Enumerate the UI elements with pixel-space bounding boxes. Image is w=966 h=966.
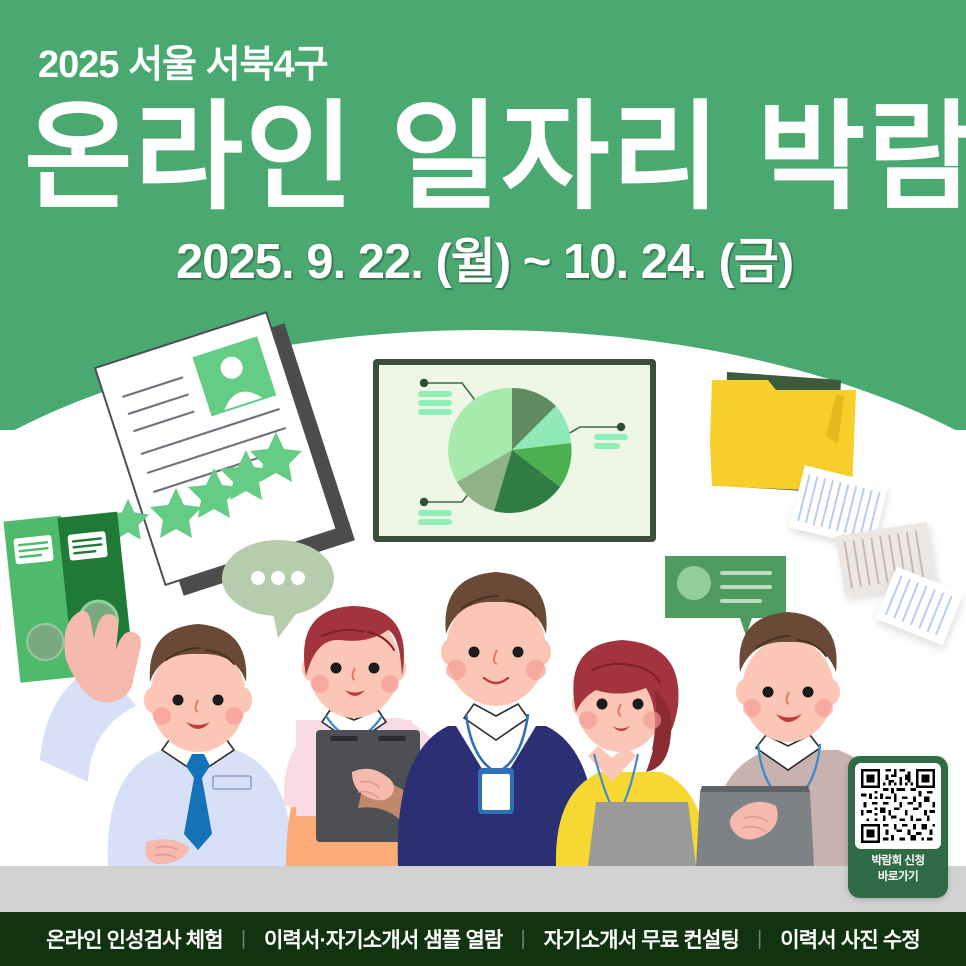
qr-apply-badge[interactable]: 박람회 신청 바로가기 xyxy=(848,756,948,898)
person-blue-shirt-tie xyxy=(40,611,292,866)
footer-item-3[interactable]: 이력서 사진 수정 xyxy=(764,924,936,954)
tablet-gray xyxy=(588,802,696,866)
footer-items: 온라인 인성검사 체험 | 이력서·자기소개서 샘플 열람 | 자기소개서 무료… xyxy=(30,924,936,954)
footer-item-2[interactable]: 자기소개서 무료 컨설팅 xyxy=(528,924,755,954)
person-yellow-top xyxy=(556,640,706,866)
qr-caption: 박람회 신청 바로가기 xyxy=(871,854,924,885)
qr-caption-line2: 바로가기 xyxy=(871,870,924,886)
callout-dot xyxy=(420,498,428,506)
presentation-board xyxy=(373,359,656,542)
footer-item-0[interactable]: 온라인 인성검사 체험 xyxy=(30,924,239,954)
avatar-circle xyxy=(677,566,711,600)
badge-card xyxy=(482,774,510,810)
qr-code-image[interactable] xyxy=(855,763,941,849)
illustration-stage xyxy=(0,0,966,966)
callout-dot xyxy=(617,423,625,431)
footer-separator: | xyxy=(239,928,248,951)
poster-root: 2025 서울 서북4구 온라인 일자리 박람회 2025. 9. 22. (월… xyxy=(0,0,966,966)
desk-surface xyxy=(0,866,966,912)
bubble-dot xyxy=(291,571,305,585)
footer-item-1[interactable]: 이력서·자기소개서 샘플 열람 xyxy=(248,924,519,954)
footer-separator: | xyxy=(755,928,764,951)
footer-separator: | xyxy=(519,928,528,951)
bubble-dot xyxy=(251,571,265,585)
qr-caption-line1: 박람회 신청 xyxy=(871,854,924,870)
callout-dot xyxy=(420,379,428,387)
pie-chart xyxy=(448,388,571,513)
bubble-dot xyxy=(271,571,285,585)
scattered-papers xyxy=(789,465,963,645)
callout-label xyxy=(418,391,452,415)
footer-bar: 온라인 인성검사 체험 | 이력서·자기소개서 샘플 열람 | 자기소개서 무료… xyxy=(0,912,966,966)
